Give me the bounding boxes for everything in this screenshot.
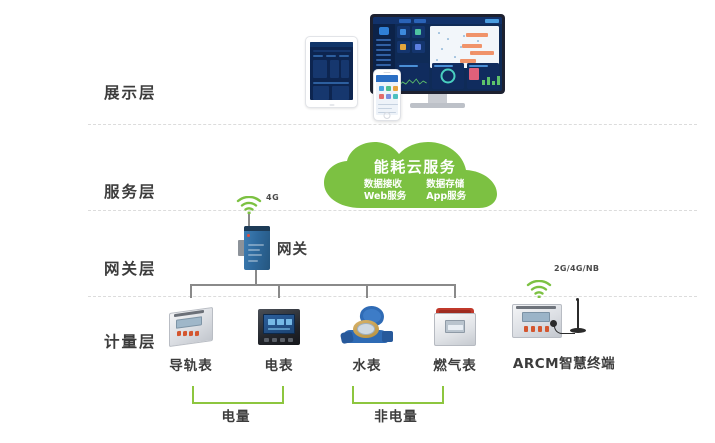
din-rail-meter-icon [169, 310, 213, 344]
dashboard-bottom-widgets [397, 63, 499, 89]
layer-divider-display-service [88, 124, 697, 125]
gateway-device-icon [238, 226, 274, 270]
bracket-label-non-electric: 非电量 [352, 405, 440, 425]
connector-drop-din-rail [190, 284, 192, 298]
water-meter-icon [341, 306, 393, 346]
arcm-smart-terminal: 2G/4G/NB ARCM智慧终端 [498, 262, 630, 374]
tablet-screen [310, 42, 353, 100]
wifi-signal-icon [526, 280, 552, 298]
connector-drop-gas [454, 284, 456, 298]
gateway-signal-label: 4G [266, 193, 279, 202]
smartphone-device-icon [373, 69, 401, 121]
layer-divider-service-gateway [88, 210, 697, 211]
antenna-tip [576, 298, 579, 301]
gas-meter-icon [434, 308, 476, 346]
connector-drop-water [366, 284, 368, 298]
bracket-electric [192, 386, 284, 404]
panel-meter-icon [258, 309, 300, 345]
dashboard-stat-cards [397, 26, 427, 61]
cloud-item-data-storage: 数据存储 [426, 179, 466, 191]
cloud-title: 能耗云服务 [316, 156, 514, 177]
dashboard-topbar [373, 17, 502, 24]
tablet-home-indicator [329, 104, 334, 106]
phone-home-button [384, 112, 391, 119]
cloud-item-data-receive: 数据接收 [364, 179, 406, 191]
tablet-device-icon [305, 36, 358, 108]
meter-label-electricity: 电表 [236, 354, 322, 374]
arcm-signal-label: 2G/4G/NB [554, 264, 599, 273]
phone-screen [376, 75, 398, 115]
connector-gateway-trunk [255, 270, 257, 284]
connector-drop-electricity [278, 284, 280, 298]
wifi-signal-icon [236, 196, 262, 214]
cloud-item-web-service: Web服务 [364, 191, 406, 203]
bracket-label-electric: 电量 [192, 405, 280, 425]
phone-app-header [376, 75, 398, 82]
display-layer-devices [305, 14, 540, 119]
external-antenna-icon [577, 300, 579, 330]
tablet-screen-topbar [310, 42, 353, 47]
layer-label-gateway: 网关层 [104, 257, 196, 279]
cloud-service-node: 能耗云服务 数据接收 Web服务 数据存储 App服务 [316, 142, 514, 210]
layer-label-display: 展示层 [104, 81, 196, 103]
monitor-stand-base [410, 103, 465, 108]
bracket-non-electric [352, 386, 444, 404]
cloud-subitems-left: 数据接收 Web服务 [364, 179, 406, 203]
arcm-terminal-label: ARCM智慧终端 [484, 352, 644, 372]
cloud-item-app-service: App服务 [426, 191, 466, 203]
phone-earpiece [384, 72, 391, 73]
connector-horizontal-bus [190, 284, 456, 286]
cloud-subitems: 数据接收 Web服务 数据存储 App服务 [316, 179, 514, 203]
dashboard-map-panel [430, 26, 499, 68]
layer-label-service: 服务层 [104, 180, 196, 202]
meter-label-din-rail: 导轨表 [148, 354, 234, 374]
cloud-subitems-right: 数据存储 App服务 [426, 179, 466, 203]
gateway-label: 网关 [277, 238, 308, 259]
architecture-diagram: 展示层 服务层 网关层 计量层 [0, 0, 715, 443]
meter-label-water: 水表 [324, 354, 410, 374]
